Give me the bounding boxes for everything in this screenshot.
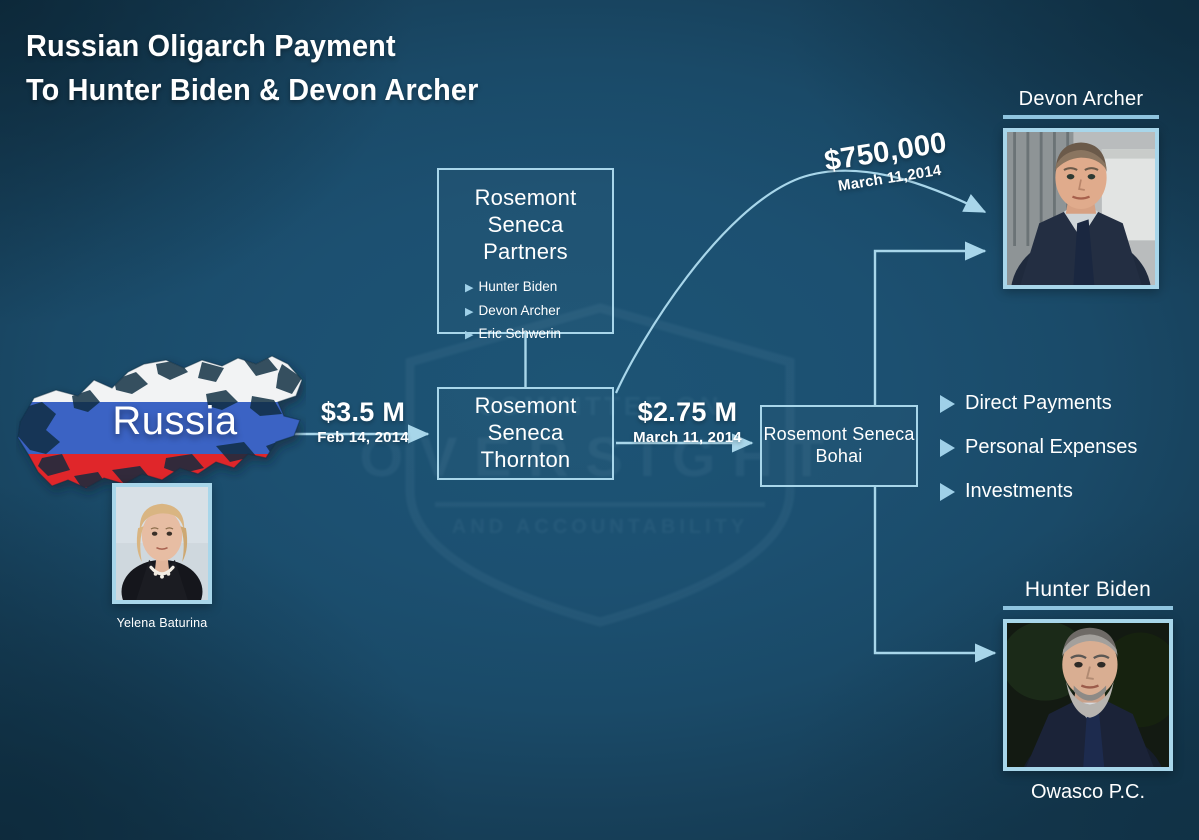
- list-item: Investments: [940, 480, 1137, 503]
- russia-map-icon: [16, 350, 306, 505]
- box-title-line-1: Rosemont Seneca: [439, 393, 612, 447]
- box-title-line-1: Rosemont Seneca: [763, 424, 914, 446]
- photo-header-devon-archer: Devon Archer: [1003, 88, 1159, 111]
- flow-amount: $2.75 M: [630, 398, 745, 426]
- triangle-bullet-icon: [940, 439, 955, 457]
- photo-card-yelena-baturina: Yelena Baturina: [112, 483, 212, 630]
- triangle-bullet-icon: [940, 483, 955, 501]
- list-item: ▶Devon Archer: [465, 299, 612, 322]
- list-item: ▶Hunter Biden: [465, 275, 612, 298]
- partners-member-list: ▶Hunter Biden ▶Devon Archer ▶Eric Schwer…: [439, 275, 612, 345]
- triangle-bullet-icon: [940, 395, 955, 413]
- use-label: Personal Expenses: [965, 436, 1137, 459]
- portrait-illustration: [1007, 623, 1169, 767]
- box-rosemont-seneca-thornton[interactable]: Rosemont Seneca Thornton: [437, 387, 614, 480]
- list-item: Personal Expenses: [940, 436, 1137, 459]
- triangle-bullet-icon: ▶: [465, 306, 473, 318]
- uses-of-funds-list: Direct Payments Personal Expenses Invest…: [940, 392, 1137, 524]
- triangle-bullet-icon: ▶: [465, 282, 473, 294]
- box-title-line-2: Thornton: [439, 447, 612, 474]
- link-bohai-to-archer: [875, 251, 985, 405]
- flow-date: Feb 14, 2014: [313, 426, 413, 450]
- box-title-line-2: Bohai: [763, 446, 914, 468]
- triangle-bullet-icon: ▶: [465, 329, 473, 341]
- list-item: Direct Payments: [940, 392, 1137, 415]
- box-title-line-1: Rosemont Seneca: [439, 185, 612, 239]
- photo-header-rule: [1003, 606, 1173, 610]
- flow-label-thornton-to-bohai: $2.75 M March 11, 2014: [630, 398, 745, 450]
- photo-card-devon-archer: Devon Archer: [1003, 88, 1159, 289]
- member-name: Hunter Biden: [478, 279, 557, 294]
- portrait-illustration: [116, 487, 208, 600]
- use-label: Direct Payments: [965, 392, 1112, 415]
- infographic-canvas: COMMITTEE ON OVERSIGHT AND ACCOUNTABILIT…: [0, 0, 1199, 840]
- portrait-illustration: [1007, 132, 1155, 285]
- photo-caption-owasco: Owasco P.C.: [1003, 781, 1173, 804]
- photo-hunter-biden: [1003, 619, 1173, 771]
- flow-amount: $3.5 M: [313, 398, 413, 426]
- flow-label-russia-to-thornton: $3.5 M Feb 14, 2014: [313, 398, 413, 450]
- box-rosemont-seneca-bohai[interactable]: Rosemont Seneca Bohai: [760, 405, 918, 487]
- box-rosemont-seneca-partners[interactable]: Rosemont Seneca Partners ▶Hunter Biden ▶…: [437, 168, 614, 334]
- box-title-line-2: Partners: [439, 239, 612, 266]
- photo-header-hunter-biden: Hunter Biden: [1003, 578, 1173, 602]
- list-item: ▶Eric Schwerin: [465, 322, 612, 345]
- photo-devon-archer: [1003, 128, 1159, 289]
- photo-header-rule: [1003, 115, 1159, 119]
- link-thornton-to-archer: [616, 171, 985, 393]
- member-name: Eric Schwerin: [478, 326, 561, 341]
- member-name: Devon Archer: [478, 303, 560, 318]
- photo-caption-yelena: Yelena Baturina: [112, 616, 212, 630]
- flow-date: March 11, 2014: [630, 426, 745, 450]
- photo-card-hunter-biden: Hunter Biden: [1003, 578, 1173, 804]
- photo-yelena-baturina: [112, 483, 212, 604]
- use-label: Investments: [965, 480, 1073, 503]
